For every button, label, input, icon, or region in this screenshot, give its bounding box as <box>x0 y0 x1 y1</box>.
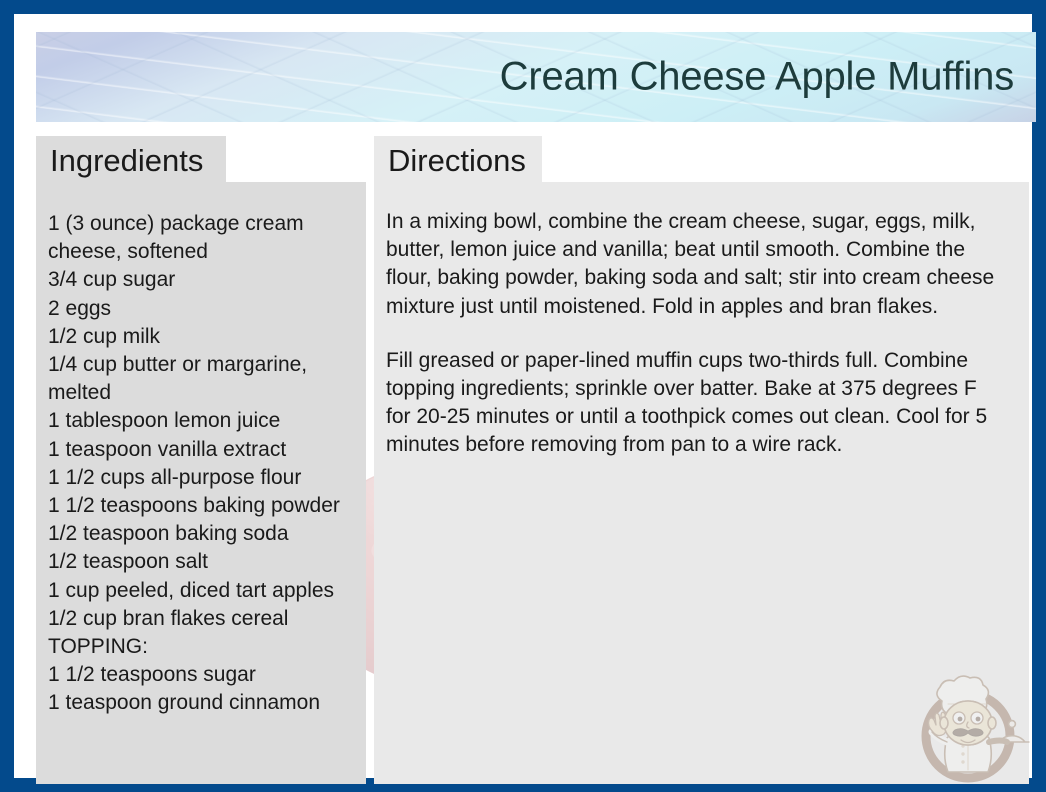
ingredients-list: 1 (3 ounce) package cream cheese, soften… <box>48 210 354 718</box>
page-title: Cream Cheese Apple Muffins <box>500 55 1014 100</box>
list-item: 1/2 cup milk <box>48 323 354 351</box>
page-surface: Cream Cheese Apple Muffins Ingredients 1… <box>14 14 1032 778</box>
list-item: 1 1/2 teaspoons sugar <box>48 661 354 689</box>
list-item: 1 tablespoon lemon juice <box>48 407 354 435</box>
list-item: 1 1/2 cups all-purpose flour <box>48 464 354 492</box>
ingredients-heading: Ingredients <box>36 136 226 182</box>
direction-paragraph: Fill greased or paper-lined muffin cups … <box>386 347 1007 460</box>
list-item: 1/2 teaspoon baking soda <box>48 520 354 548</box>
direction-paragraph: In a mixing bowl, combine the cream chee… <box>386 208 1007 321</box>
list-item: 3/4 cup sugar <box>48 266 354 294</box>
list-item: 1 (3 ounce) package cream cheese, soften… <box>48 210 354 266</box>
title-banner: Cream Cheese Apple Muffins <box>36 32 1036 122</box>
directions-heading: Directions <box>374 136 542 182</box>
ingredients-panel: Ingredients 1 (3 ounce) package cream ch… <box>36 136 366 784</box>
list-item: 1/2 cup bran flakes cereal <box>48 605 354 633</box>
list-item: 1 teaspoon vanilla extract <box>48 436 354 464</box>
list-item: 1/4 cup butter or margarine, melted <box>48 351 354 407</box>
recipe-card: Cream Cheese Apple Muffins Ingredients 1… <box>0 0 1046 792</box>
chef-mascot-logo <box>907 666 1033 786</box>
ingredients-body: 1 (3 ounce) package cream cheese, soften… <box>36 182 366 784</box>
list-item: TOPPING: <box>48 633 354 661</box>
list-item: 1 1/2 teaspoons baking powder <box>48 492 354 520</box>
list-item: 1 cup peeled, diced tart apples <box>48 577 354 605</box>
list-item: 2 eggs <box>48 295 354 323</box>
list-item: 1/2 teaspoon salt <box>48 548 354 576</box>
list-item: 1 teaspoon ground cinnamon <box>48 689 354 717</box>
